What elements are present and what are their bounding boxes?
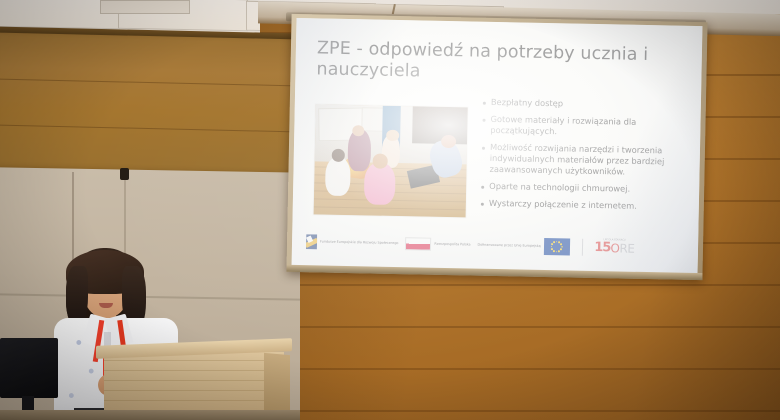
ore-letters: RE: [619, 241, 634, 255]
logo-text: Rzeczpospolita Polska: [434, 242, 470, 247]
lectern: [96, 342, 292, 420]
eu-star-icon: [558, 250, 560, 252]
projection-screen: ZPE - odpowiedź na potrzeby ucznia i nau…: [286, 14, 707, 280]
bullet-text: Możliwość rozwijania narzędzi i tworzeni…: [489, 142, 698, 179]
list-item: Gotowe materiały i rozwiązania dla począ…: [482, 114, 698, 140]
eu-flag-icon: [543, 238, 569, 256]
photo-floor-plank: [314, 215, 466, 218]
ceiling-vent: [100, 0, 190, 14]
photo-head: [387, 130, 399, 141]
bullet-text: Wystarczy połączenie z internetem.: [489, 197, 637, 211]
logo-text: Fundusze Europejskie dla Rozwoju Społecz…: [320, 240, 398, 246]
logo-ore: 15 ORE LAT DLA EDUKACJI: [594, 241, 635, 255]
bullet-dot-icon: [483, 102, 486, 105]
eu-star-icon: [556, 251, 558, 253]
list-item: Bezpłatny dostęp: [483, 97, 699, 112]
lectern-grain: [104, 360, 284, 361]
eu-star-icon: [560, 249, 562, 251]
photo-head: [372, 154, 387, 169]
slide-title: ZPE - odpowiedź na potrzeby ucznia i nau…: [316, 38, 687, 88]
photo-person-child: [325, 156, 352, 196]
list-item: Wystarczy połączenie z internetem.: [481, 197, 697, 212]
eu-star-icon: [561, 246, 563, 248]
wood-plank-seam: [0, 79, 300, 87]
logo-divider: [581, 239, 582, 256]
lectern-grain: [104, 400, 284, 401]
ore-wordmark: ORE: [610, 242, 634, 254]
slide: ZPE - odpowiedź na potrzeby ucznia i nau…: [292, 18, 703, 274]
slide-logo-bar: Fundusze Europejskie dla Rozwoju Społecz…: [306, 229, 684, 262]
wall-speaker: [120, 168, 129, 180]
poland-flag-icon: [405, 237, 431, 251]
eu-star-icon: [553, 250, 555, 252]
photo-floor-plank: [314, 207, 466, 211]
lectern-grain: [104, 370, 284, 371]
photo-dark-furniture: [412, 106, 467, 144]
eu-star-icon: [551, 248, 553, 250]
slide-bullet-list: Bezpłatny dostęp Gotowe materiały i rozw…: [481, 97, 699, 219]
lectern-grain: [104, 390, 284, 391]
bullet-dot-icon: [483, 119, 486, 122]
monitor: [0, 338, 62, 420]
logo-rzeczpospolita-polska: Rzeczpospolita Polska: [405, 237, 470, 251]
monitor-screen: [0, 338, 58, 398]
logo-dofinansowane-ue: Dofinansowane przez Unię Europejską: [477, 237, 569, 256]
eu-star-icon: [556, 241, 558, 243]
eu-star-icon: [551, 246, 553, 248]
lectern-grain: [104, 380, 284, 381]
eu-star-icon: [560, 243, 562, 245]
slide-photo-classroom: [314, 104, 468, 217]
list-item: Oparte na technologii chmurowej.: [481, 180, 697, 195]
ore-anniversary-number: 15: [594, 241, 610, 254]
presentation-photo: ZPE - odpowiedź na potrzeby ucznia i nau…: [0, 0, 780, 420]
photo-person-child: [364, 163, 395, 205]
bullet-text: Oparte na technologii chmurowej.: [489, 180, 630, 194]
logo-fundusze-europejskie: Fundusze Europejskie dla Rozwoju Społecz…: [306, 234, 399, 251]
eu-star-icon: [553, 241, 555, 243]
floor: [0, 410, 300, 420]
wood-panel-upper-left: [0, 33, 300, 178]
logo-text: Dofinansowane przez Unię Europejską: [478, 243, 541, 248]
photo-head: [441, 134, 456, 147]
wood-plank-seam: [0, 125, 300, 133]
bullet-text: Bezpłatny dostęp: [491, 97, 563, 109]
bullet-text: Gotowe materiały i rozwiązania dla począ…: [490, 114, 698, 140]
eu-star-icon: [551, 243, 553, 245]
bullet-dot-icon: [481, 185, 484, 188]
bullet-dot-icon: [481, 202, 484, 205]
list-item: Możliwość rozwijania narzędzi i tworzeni…: [481, 142, 698, 179]
bullet-dot-icon: [482, 147, 485, 150]
eu-funds-icon: [306, 234, 317, 249]
ore-tagline: LAT DLA EDUKACJI: [603, 238, 625, 241]
screen-surface: ZPE - odpowiedź na potrzeby ucznia i nau…: [292, 18, 703, 274]
